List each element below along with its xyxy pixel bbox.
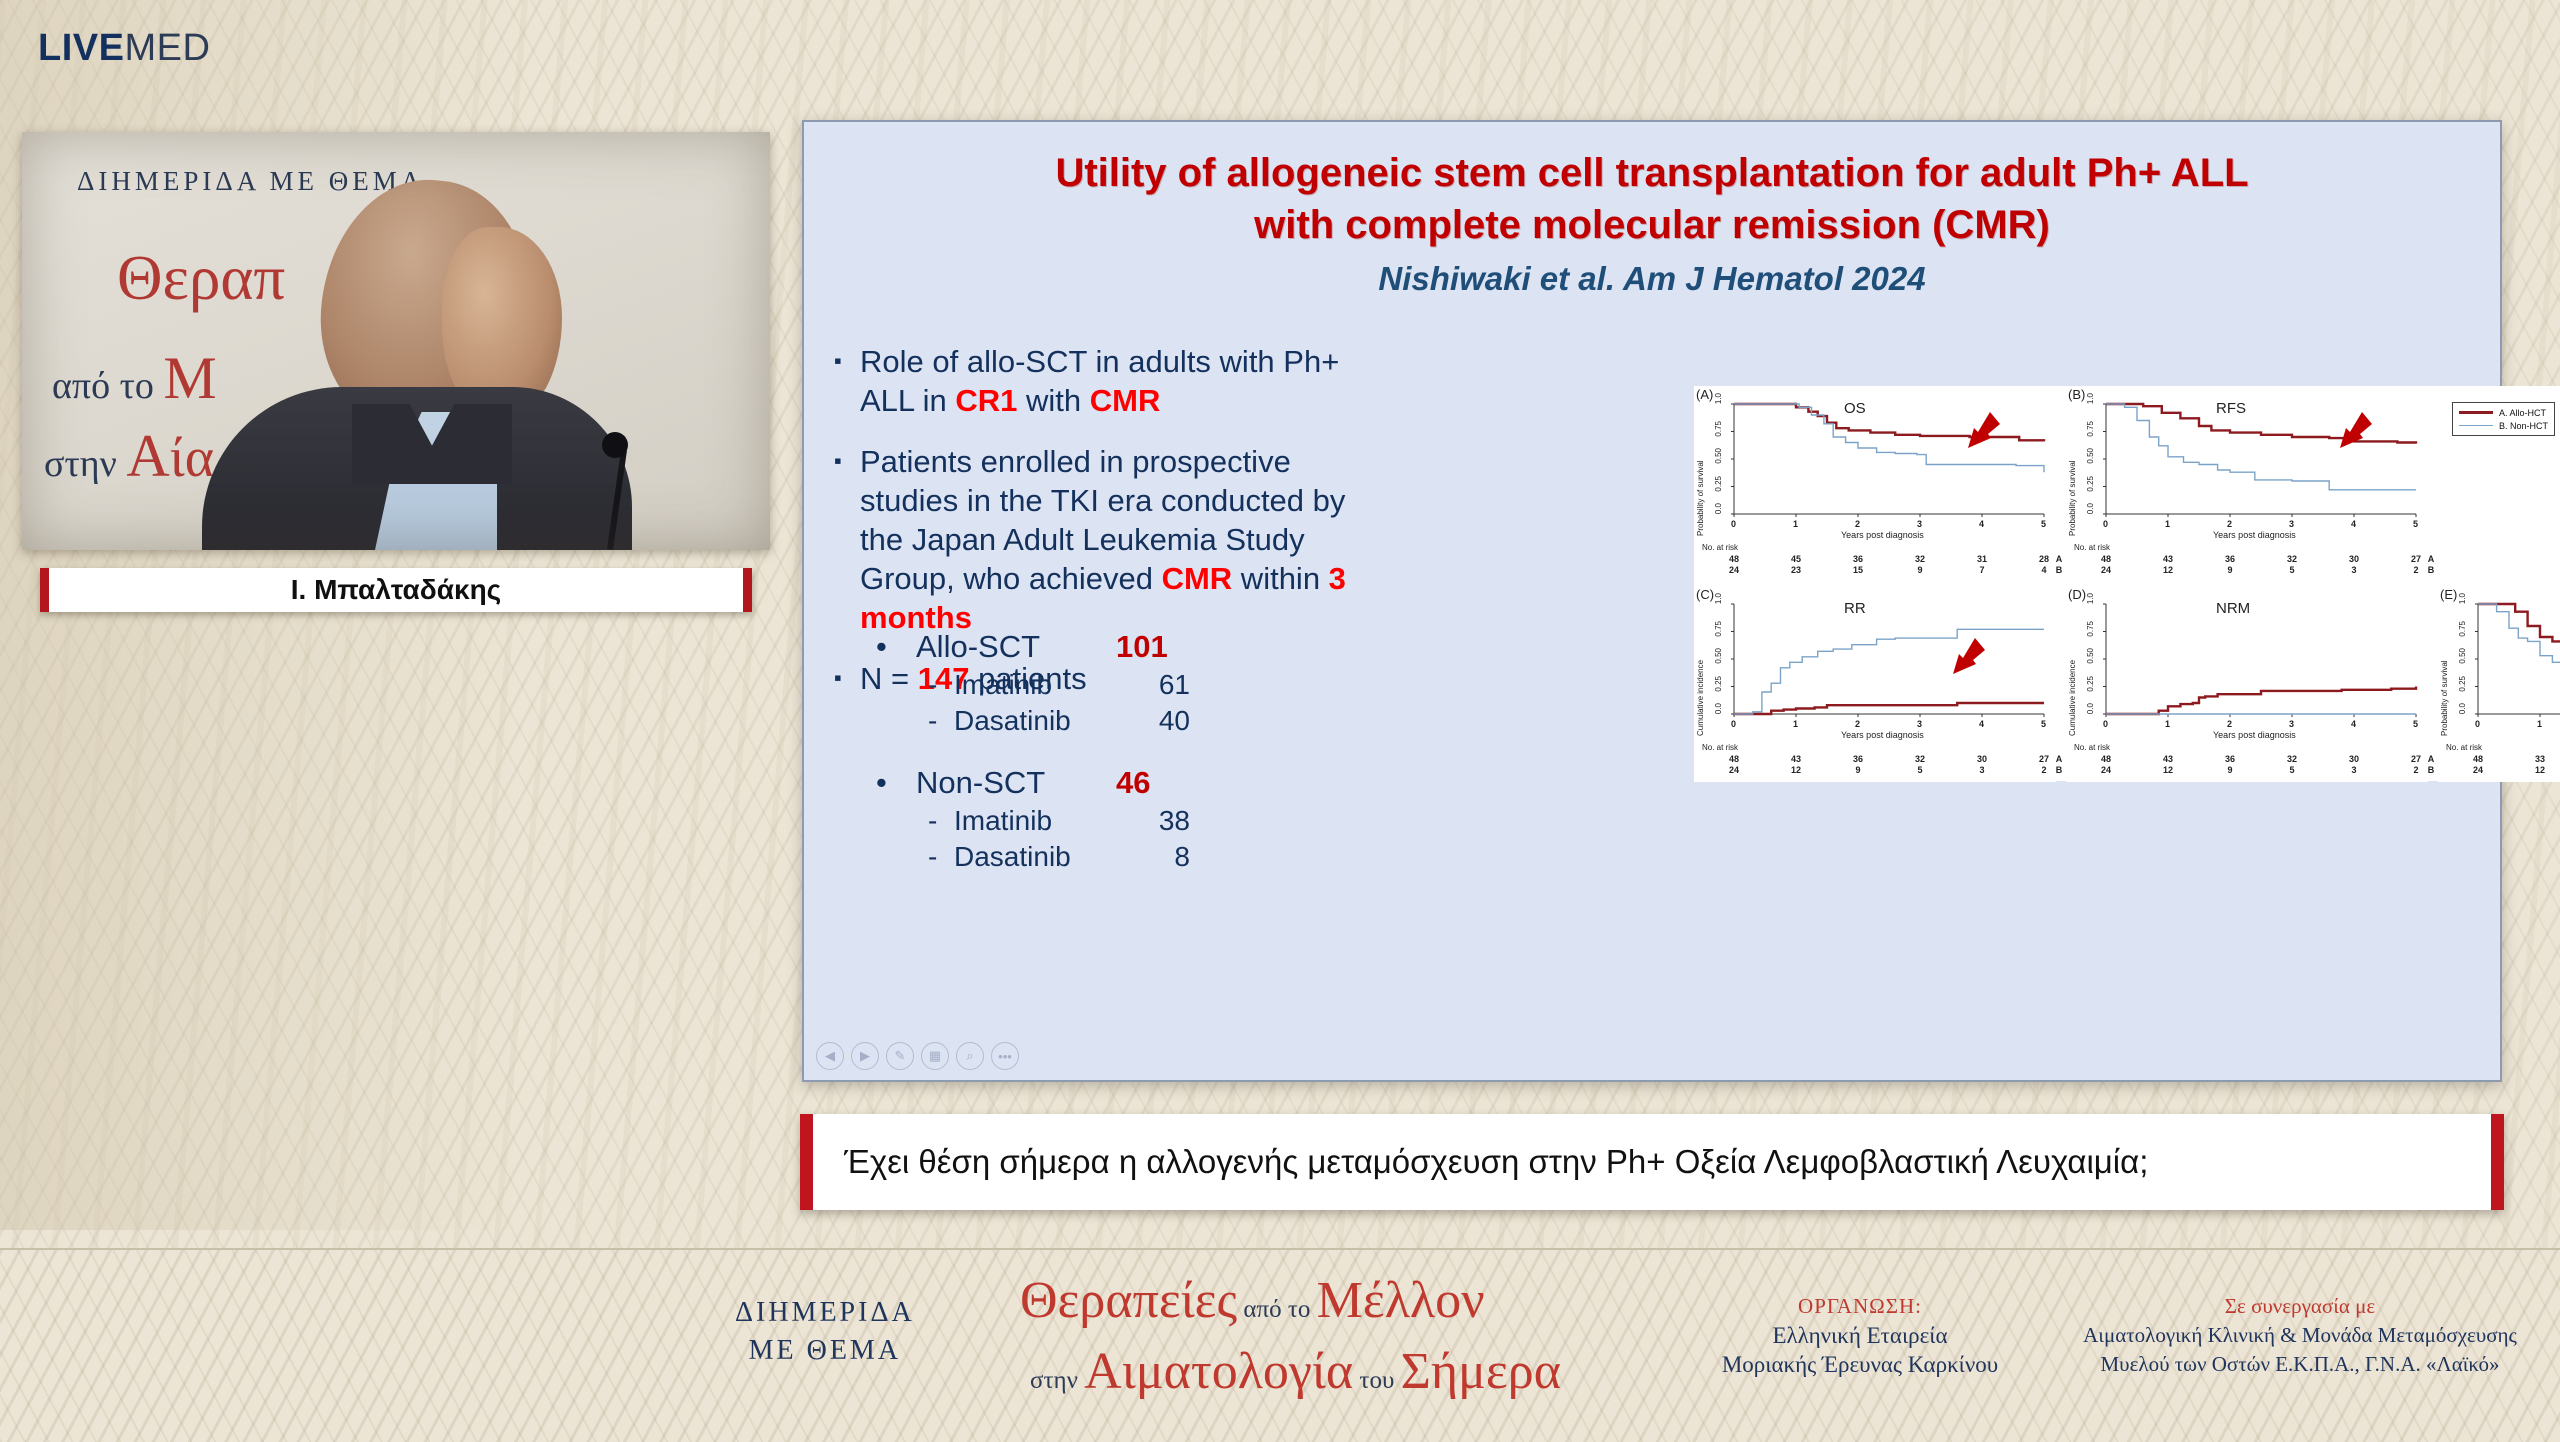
more-options-icon[interactable]: ••• xyxy=(991,1042,1019,1070)
slide-grid-icon[interactable]: ▦ xyxy=(921,1042,949,1070)
presenter-controls[interactable]: ◀▶✎▦⌕••• xyxy=(808,1036,1027,1076)
bullet-highlight: CR1 xyxy=(955,383,1017,418)
subitem-count: 40 xyxy=(1130,703,1190,739)
bullet-text: Role of allo-SCT in adults with Ph+ ALL … xyxy=(860,342,1394,420)
zoom-icon[interactable]: ⌕ xyxy=(956,1042,984,1070)
organizer-line-1: Ελληνική Εταιρεία xyxy=(1690,1321,2030,1350)
previous-slide-icon[interactable]: ◀ xyxy=(816,1042,844,1070)
caption-left-accent xyxy=(800,1114,813,1210)
km-panel-e: (E)GRFSProbability of survival0.00.250.5… xyxy=(2438,586,2560,782)
caption-right-accent xyxy=(2491,1114,2504,1210)
km-plot xyxy=(2066,586,2428,782)
subitem-count: 38 xyxy=(1130,803,1190,839)
legend-entry: B. Non-HCT xyxy=(2459,419,2548,432)
slide-citation: Nishiwaki et al. Am J Hematol 2024 xyxy=(804,260,2500,298)
km-panel-c: (C)RRCumulative incidence0.00.250.500.75… xyxy=(1694,586,2056,782)
footer-title-line-1: Θεραπείες από το Μέλλον xyxy=(1020,1270,1561,1341)
cohort-subitem: -Imatinib38 xyxy=(864,803,1384,839)
bullet-highlight: CMR xyxy=(1162,561,1233,596)
subitem-count: 8 xyxy=(1130,839,1190,875)
footer-title-line-2: στην Αιματολογία του Σήμερα xyxy=(1020,1341,1561,1412)
cohort-group: •Non-SCT46-Imatinib38-Dasatinib8 xyxy=(864,763,1384,875)
pen-icon[interactable]: ✎ xyxy=(886,1042,914,1070)
km-panel-a: (A)OSProbability of survival0.00.250.500… xyxy=(1694,386,2056,582)
cohort-subitem: -Dasatinib8 xyxy=(864,839,1384,875)
km-panel-b: (B)RFSProbability of survival0.00.250.50… xyxy=(2066,386,2428,582)
footer-title-l2-b: Αιματολογία xyxy=(1084,1343,1353,1400)
bullet-marker-icon: ▪ xyxy=(834,659,860,697)
cohort-group: •Allo-SCT101-Imatinib61-Dasatinib40 xyxy=(864,627,1384,739)
cohort-name: Non-SCT xyxy=(916,763,1116,803)
km-series-non-hct xyxy=(2478,604,2560,690)
footer-organizer: ΟΡΓΑΝΩΣΗ: Ελληνική Εταιρεία Μοριακής Έρε… xyxy=(1690,1292,2030,1379)
footer-event-label: ΔΙΗΜΕΡΙΔΑ ΜΕ ΘΕΜΑ xyxy=(735,1294,915,1370)
footer-event-title: Θεραπείες από το Μέλλον στην Αιματολογία… xyxy=(1020,1270,1561,1412)
page-root: LIVEMED ΔΙΗΜΕΡΙΔΑ ΜΕ ΘΕΜΑ Θεραπ από το Μ… xyxy=(0,0,2560,1440)
next-slide-icon[interactable]: ▶ xyxy=(851,1042,879,1070)
red-arrow-icon xyxy=(1929,634,1989,686)
km-plot xyxy=(2438,586,2560,782)
bullet-highlight: CMR xyxy=(1090,383,1161,418)
km-series-allo-hct xyxy=(2106,687,2416,715)
footer-event-line-2: ΜΕ ΘΕΜΑ xyxy=(735,1332,915,1370)
bullet-marker-icon: ▪ xyxy=(834,442,860,480)
cohort-group-header: •Non-SCT46 xyxy=(864,763,1384,803)
legend-label: B. Non-HCT xyxy=(2499,421,2548,431)
footer-title-l2-d: Σήμερα xyxy=(1401,1343,1561,1400)
figure-legend: A. Allo-HCTB. Non-HCT xyxy=(2452,402,2555,436)
cohort-count: 46 xyxy=(1116,763,1150,803)
cohort-breakdown-list: •Allo-SCT101-Imatinib61-Dasatinib40•Non-… xyxy=(864,627,1384,899)
cohort-bullet-icon: • xyxy=(864,763,916,803)
legend-label: A. Allo-HCT xyxy=(2499,408,2546,418)
speaker-video[interactable]: ΔΙΗΜΕΡΙΔΑ ΜΕ ΘΕΜΑ Θεραπ από το Μ στην Αί… xyxy=(22,132,770,550)
bullet-segment: with xyxy=(1017,383,1089,418)
bullet-segment: within xyxy=(1232,561,1328,596)
livemed-logo[interactable]: LIVEMED xyxy=(38,28,210,68)
subitem-name: Imatinib xyxy=(954,803,1130,839)
footer-title-l1-c: Μέλλον xyxy=(1317,1272,1485,1329)
cohort-subitem: -Dasatinib40 xyxy=(864,703,1384,739)
organizer-header: ΟΡΓΑΝΩΣΗ: xyxy=(1690,1292,2030,1321)
km-plot xyxy=(1694,586,2056,782)
speaker-name: Ι. Μπαλταδάκης xyxy=(291,574,502,606)
red-arrow-icon xyxy=(1944,408,2004,460)
km-curves-figure: (A)OSProbability of survival0.00.250.500… xyxy=(1694,386,2560,781)
subitem-name: Imatinib xyxy=(954,667,1130,703)
slide-panel[interactable]: Utility of allogeneic stem cell transpla… xyxy=(802,120,2502,1082)
footer-event-line-1: ΔΙΗΜΕΡΙΔΑ xyxy=(735,1294,915,1332)
logo-light: MED xyxy=(124,27,210,69)
logo-bold: LIVE xyxy=(38,27,124,69)
bullet-item: ▪Role of allo-SCT in adults with Ph+ ALL… xyxy=(834,342,1394,420)
caption-text: Έχει θέση σήμερα η αλλογενής μεταμόσχευσ… xyxy=(800,1143,2148,1181)
cohort-bullet-icon: • xyxy=(864,627,916,667)
subitem-dash-icon: - xyxy=(928,703,954,739)
name-plate-left-accent xyxy=(40,568,49,612)
km-series-allo-hct xyxy=(1734,703,2044,714)
slide-title-block: Utility of allogeneic stem cell transpla… xyxy=(804,147,2500,298)
top-bar: LIVEMED xyxy=(0,0,2560,95)
red-arrow-icon xyxy=(2316,408,2376,460)
legend-color-swatch xyxy=(2459,411,2493,414)
cohort-group-header: •Allo-SCT101 xyxy=(864,627,1384,667)
slide-title-line-1: Utility of allogeneic stem cell transpla… xyxy=(804,147,2500,199)
name-plate-right-accent xyxy=(743,568,752,612)
footer-title-l2-c: του xyxy=(1353,1367,1400,1394)
cohort-count: 101 xyxy=(1116,627,1168,667)
cooperation-line-2: Μυελού των Οστών Ε.Κ.Π.Α., Γ.Ν.Α. «Λαϊκό… xyxy=(2060,1350,2540,1379)
cohort-name: Allo-SCT xyxy=(916,627,1116,667)
km-panel-d: (D)NRMCumulative incidence0.00.250.500.7… xyxy=(2066,586,2428,782)
video-vignette xyxy=(22,132,770,550)
footer-title-l1-b: από το xyxy=(1237,1296,1317,1323)
subitem-name: Dasatinib xyxy=(954,703,1130,739)
footer-title-l1-a: Θεραπείες xyxy=(1020,1272,1237,1329)
slide-title-line-2: with complete molecular remission (CMR) xyxy=(804,199,2500,251)
bullet-text: Patients enrolled in prospective studies… xyxy=(860,442,1394,637)
speaker-name-plate: Ι. Μπαλταδάκης xyxy=(40,568,752,612)
footer-cooperation: Σε συνεργασία με Αιματολογική Κλινική & … xyxy=(2060,1292,2540,1379)
bullet-marker-icon: ▪ xyxy=(834,342,860,380)
footer: ΔΙΗΜΕΡΙΔΑ ΜΕ ΘΕΜΑ Θεραπείες από το Μέλλο… xyxy=(0,1248,2560,1442)
organizer-line-2: Μοριακής Έρευνας Καρκίνου xyxy=(1690,1350,2030,1379)
cooperation-line-1: Αιματολογική Κλινική & Μονάδα Μεταμόσχευ… xyxy=(2060,1321,2540,1350)
footer-title-l2-a: στην xyxy=(1030,1367,1084,1394)
subitem-name: Dasatinib xyxy=(954,839,1130,875)
km-series-non-hct xyxy=(1734,629,2044,714)
subitem-count: 61 xyxy=(1130,667,1190,703)
legend-entry: A. Allo-HCT xyxy=(2459,406,2548,419)
cooperation-header: Σε συνεργασία με xyxy=(2060,1292,2540,1321)
legend-color-swatch xyxy=(2459,425,2493,427)
subitem-dash-icon: - xyxy=(928,803,954,839)
bullet-item: ▪Patients enrolled in prospective studie… xyxy=(834,442,1394,637)
cohort-subitem: -Imatinib61 xyxy=(864,667,1384,703)
session-caption-bar: Έχει θέση σήμερα η αλλογενής μεταμόσχευσ… xyxy=(800,1114,2504,1210)
subitem-dash-icon: - xyxy=(928,839,954,875)
subitem-dash-icon: - xyxy=(928,667,954,703)
